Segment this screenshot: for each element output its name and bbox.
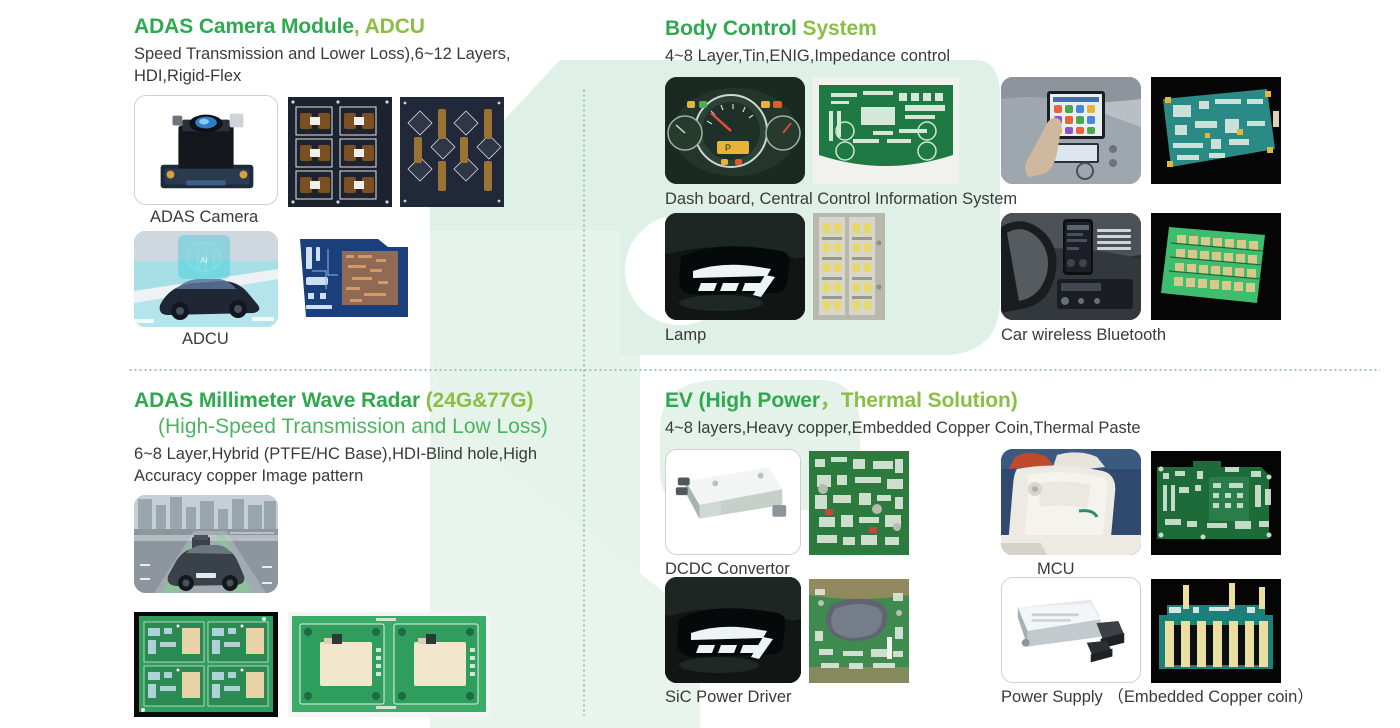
- caption-adas-camera: ADAS Camera: [150, 207, 258, 227]
- image-mcu-green-pcb: [1151, 451, 1281, 555]
- ev-title: EV (High Power，Thermal Solution): [665, 388, 1345, 414]
- image-radar-pcb-2up-panel: [288, 612, 490, 717]
- body-title-accent: System: [797, 17, 877, 40]
- image-dashboard-green-pcb: [813, 77, 959, 184]
- svg-text:AI: AI: [200, 256, 208, 265]
- radar-title: ADAS Millimeter Wave Radar (24G&77G): [134, 388, 574, 414]
- image-center-console-touchscreen: [1001, 77, 1141, 184]
- caption-sic-power-driver: SiC Power Driver: [665, 687, 792, 707]
- image-sic-headlamp-photo: [665, 577, 801, 683]
- adas-title: ADAS Camera Module, ADCU: [134, 14, 574, 40]
- slide-canvas: ADAS Camera Module, ADCU Speed Transmiss…: [0, 0, 1400, 728]
- image-adcu-ai-car-illustration: AI: [134, 231, 278, 327]
- adas-description: Speed Transmission and Lower Loss),6~12 …: [134, 43, 564, 87]
- radar-description: 6~8 Layer,Hybrid (PTFE/HC Base),HDI-Blin…: [134, 443, 564, 487]
- image-dcdc-green-pcb: [809, 451, 909, 555]
- image-embedded-copper-coin-pcb: [1151, 579, 1281, 683]
- caption-lamp: Lamp: [665, 325, 706, 345]
- image-dashboard-cluster-photo: P: [665, 77, 805, 184]
- caption-adcu: ADCU: [182, 329, 229, 349]
- image-adas-camera-module-photo: [134, 95, 278, 205]
- caption-power-supply: Power Supply （Embedded Copper coin）: [1001, 687, 1314, 707]
- image-adcu-blue-pcb: [294, 233, 414, 325]
- image-rigid-flex-panel-gold: [400, 97, 504, 207]
- quadrant-adas-camera-module: ADAS Camera Module, ADCU Speed Transmiss…: [134, 14, 574, 365]
- body-title: Body Control System: [665, 16, 1345, 42]
- image-sic-power-driver-pcb: [809, 579, 909, 683]
- image-radar-highway-scene: [134, 495, 278, 593]
- quadrant-ev-high-power: EV (High Power，Thermal Solution) 4~8 lay…: [665, 388, 1345, 728]
- image-dcdc-convertor-module: [665, 449, 801, 555]
- body-title-main: Body Control: [665, 17, 797, 40]
- caption-dashboard: Dash board, Central Control Information …: [665, 189, 1017, 209]
- ev-title-accent: ，Thermal Solution): [820, 389, 1018, 412]
- image-radar-pcb-4up-panel: [134, 612, 278, 717]
- image-power-supply-module: [1001, 577, 1141, 683]
- body-description: 4~8 Layer,Tin,ENIG,Impedance control: [665, 45, 1325, 67]
- radar-subtitle: (High-Speed Transmission and Low Loss): [134, 414, 574, 440]
- image-lamp-led-panel-pcb: [813, 213, 885, 320]
- quadrant-body-control-system: Body Control System 4~8 Layer,Tin,ENIG,I…: [665, 16, 1345, 357]
- image-car-phone-mount-bluetooth: [1001, 213, 1141, 320]
- image-headlamp-photo: [665, 213, 805, 320]
- radar-title-main: ADAS Millimeter Wave Radar: [134, 389, 420, 412]
- image-mcu-module-photo: [1001, 449, 1141, 555]
- divider-vertical: [583, 88, 585, 716]
- image-rigid-flex-panel-dark: [288, 97, 392, 207]
- ev-description: 4~8 layers,Heavy copper,Embedded Copper …: [665, 417, 1325, 439]
- quadrant-adas-mmwave-radar: ADAS Millimeter Wave Radar (24G&77G) (Hi…: [134, 388, 574, 728]
- adas-title-main: ADAS Camera Module: [134, 15, 354, 38]
- divider-horizontal: [128, 369, 1380, 371]
- caption-mcu: MCU: [1037, 559, 1075, 579]
- ev-title-main: EV (High Power: [665, 389, 820, 412]
- image-infotainment-teal-pcb: [1151, 77, 1281, 184]
- caption-dcdc-convertor: DCDC Convertor: [665, 559, 790, 579]
- svg-text:P: P: [725, 143, 731, 153]
- radar-title-accent: (24G&77G): [420, 389, 533, 412]
- adas-title-accent: , ADCU: [354, 15, 425, 38]
- caption-car-wireless-bluetooth: Car wireless Bluetooth: [1001, 325, 1166, 345]
- image-bluetooth-array-pcb: [1151, 213, 1281, 320]
